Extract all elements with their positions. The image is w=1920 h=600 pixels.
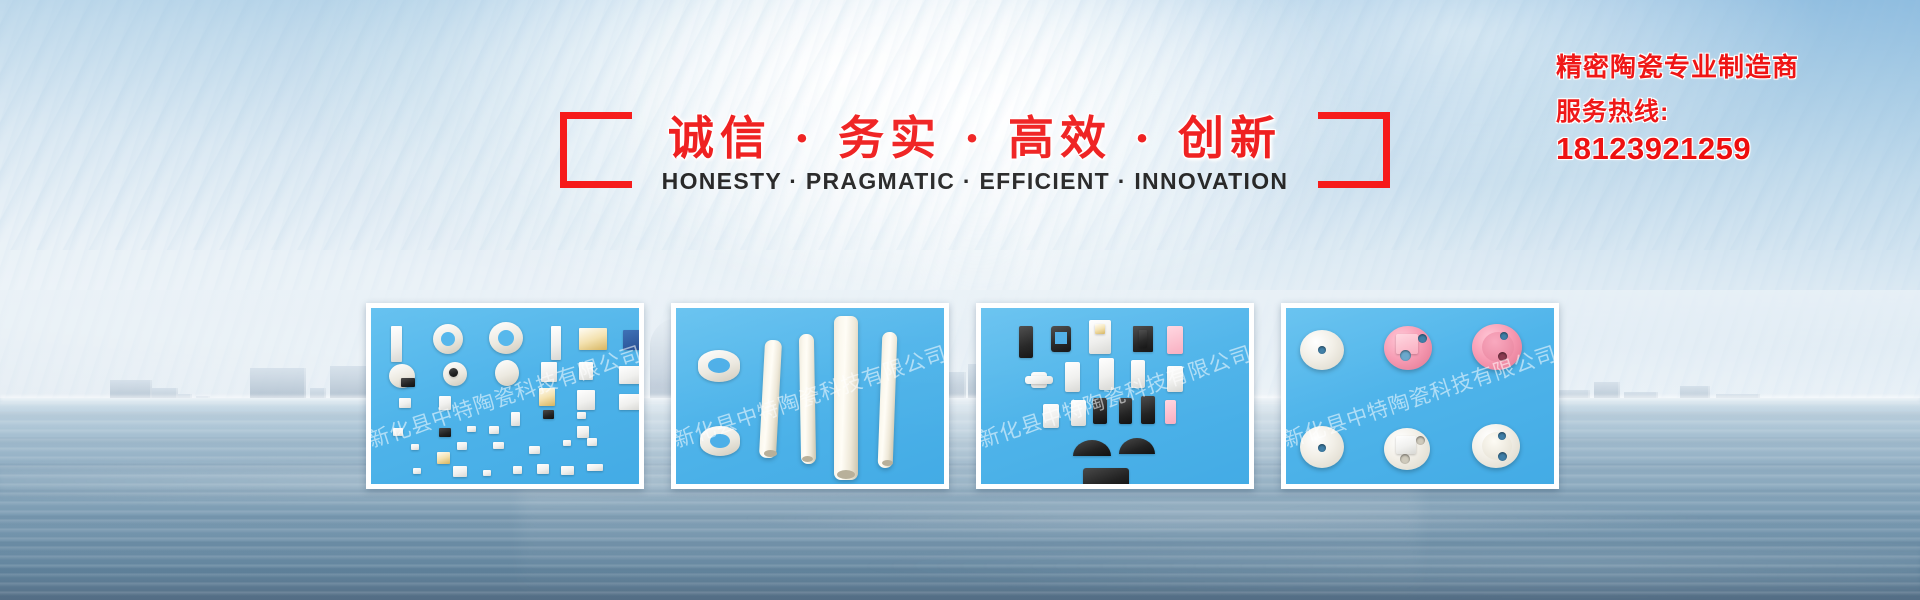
contact-block: 精密陶瓷专业制造商 服务热线: 18123921259 (1556, 50, 1866, 168)
slogan-english: HONESTY · PRAGMATIC · EFFICIENT · INNOVA… (560, 168, 1390, 195)
product-panel-4[interactable]: 新化县中特陶瓷科技有限公司 (1281, 303, 1559, 489)
panel-3-canvas: 新化县中特陶瓷科技有限公司 (981, 308, 1249, 484)
panel-1-watermark: 新化县中特陶瓷科技有限公司 (366, 338, 644, 455)
panel-2-canvas: 新化县中特陶瓷科技有限公司 (676, 308, 944, 484)
product-panel-3[interactable]: 新化县中特陶瓷科技有限公司 (976, 303, 1254, 489)
hotline-number[interactable]: 18123921259 (1556, 130, 1866, 168)
panel-4-canvas: 新化县中特陶瓷科技有限公司 (1286, 308, 1554, 484)
hotline-label: 服务热线: (1556, 96, 1866, 128)
product-panel-row: 新化县中特陶瓷科技有限公司 新化县中特陶瓷科技有限公司 (366, 303, 1559, 489)
company-tagline: 精密陶瓷专业制造商 (1556, 50, 1866, 84)
product-panel-2[interactable]: 新化县中特陶瓷科技有限公司 (671, 303, 949, 489)
panel-1-canvas: 新化县中特陶瓷科技有限公司 (371, 308, 639, 484)
slogan-chinese: 诚信 · 务实 · 高效 · 创新 (560, 102, 1390, 168)
slogan-block: 诚信 · 务实 · 高效 · 创新 HONESTY · PRAGMATIC · … (560, 96, 1390, 226)
panel-3-watermark: 新化县中特陶瓷科技有限公司 (976, 338, 1254, 455)
hero-banner: 诚信 · 务实 · 高效 · 创新 HONESTY · PRAGMATIC · … (0, 0, 1920, 600)
product-panel-1[interactable]: 新化县中特陶瓷科技有限公司 (366, 303, 644, 489)
